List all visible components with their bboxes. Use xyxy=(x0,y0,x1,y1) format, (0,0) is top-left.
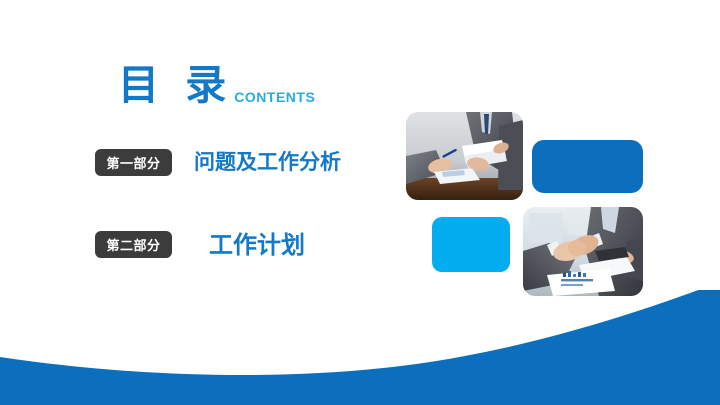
slide-canvas: 目 录 CONTENTS 第一部分 问题及工作分析 第二部分 工作计划 xyxy=(0,0,720,405)
toc-badge-1: 第一部分 xyxy=(95,149,172,176)
color-block-darkblue xyxy=(532,140,643,193)
photo-meeting-tile xyxy=(406,112,523,200)
color-block-cyan xyxy=(432,217,510,272)
photo-meeting-image xyxy=(406,112,523,200)
toc-badge-2: 第二部分 xyxy=(95,231,172,258)
toc-entry-2[interactable]: 第二部分 工作计划 xyxy=(95,231,305,258)
page-title-chinese: 目 录 xyxy=(118,65,232,106)
bottom-wave-decoration xyxy=(0,290,720,405)
toc-label-1: 问题及工作分析 xyxy=(194,152,341,173)
page-title: 目 录 CONTENTS xyxy=(118,58,315,106)
wave-shape xyxy=(0,290,720,405)
photo-handshake-tile xyxy=(523,207,643,296)
page-title-english: CONTENTS xyxy=(234,90,315,106)
photo-handshake-image xyxy=(523,207,643,296)
toc-label-2: 工作计划 xyxy=(209,233,305,257)
toc-entry-1[interactable]: 第一部分 问题及工作分析 xyxy=(95,149,341,176)
